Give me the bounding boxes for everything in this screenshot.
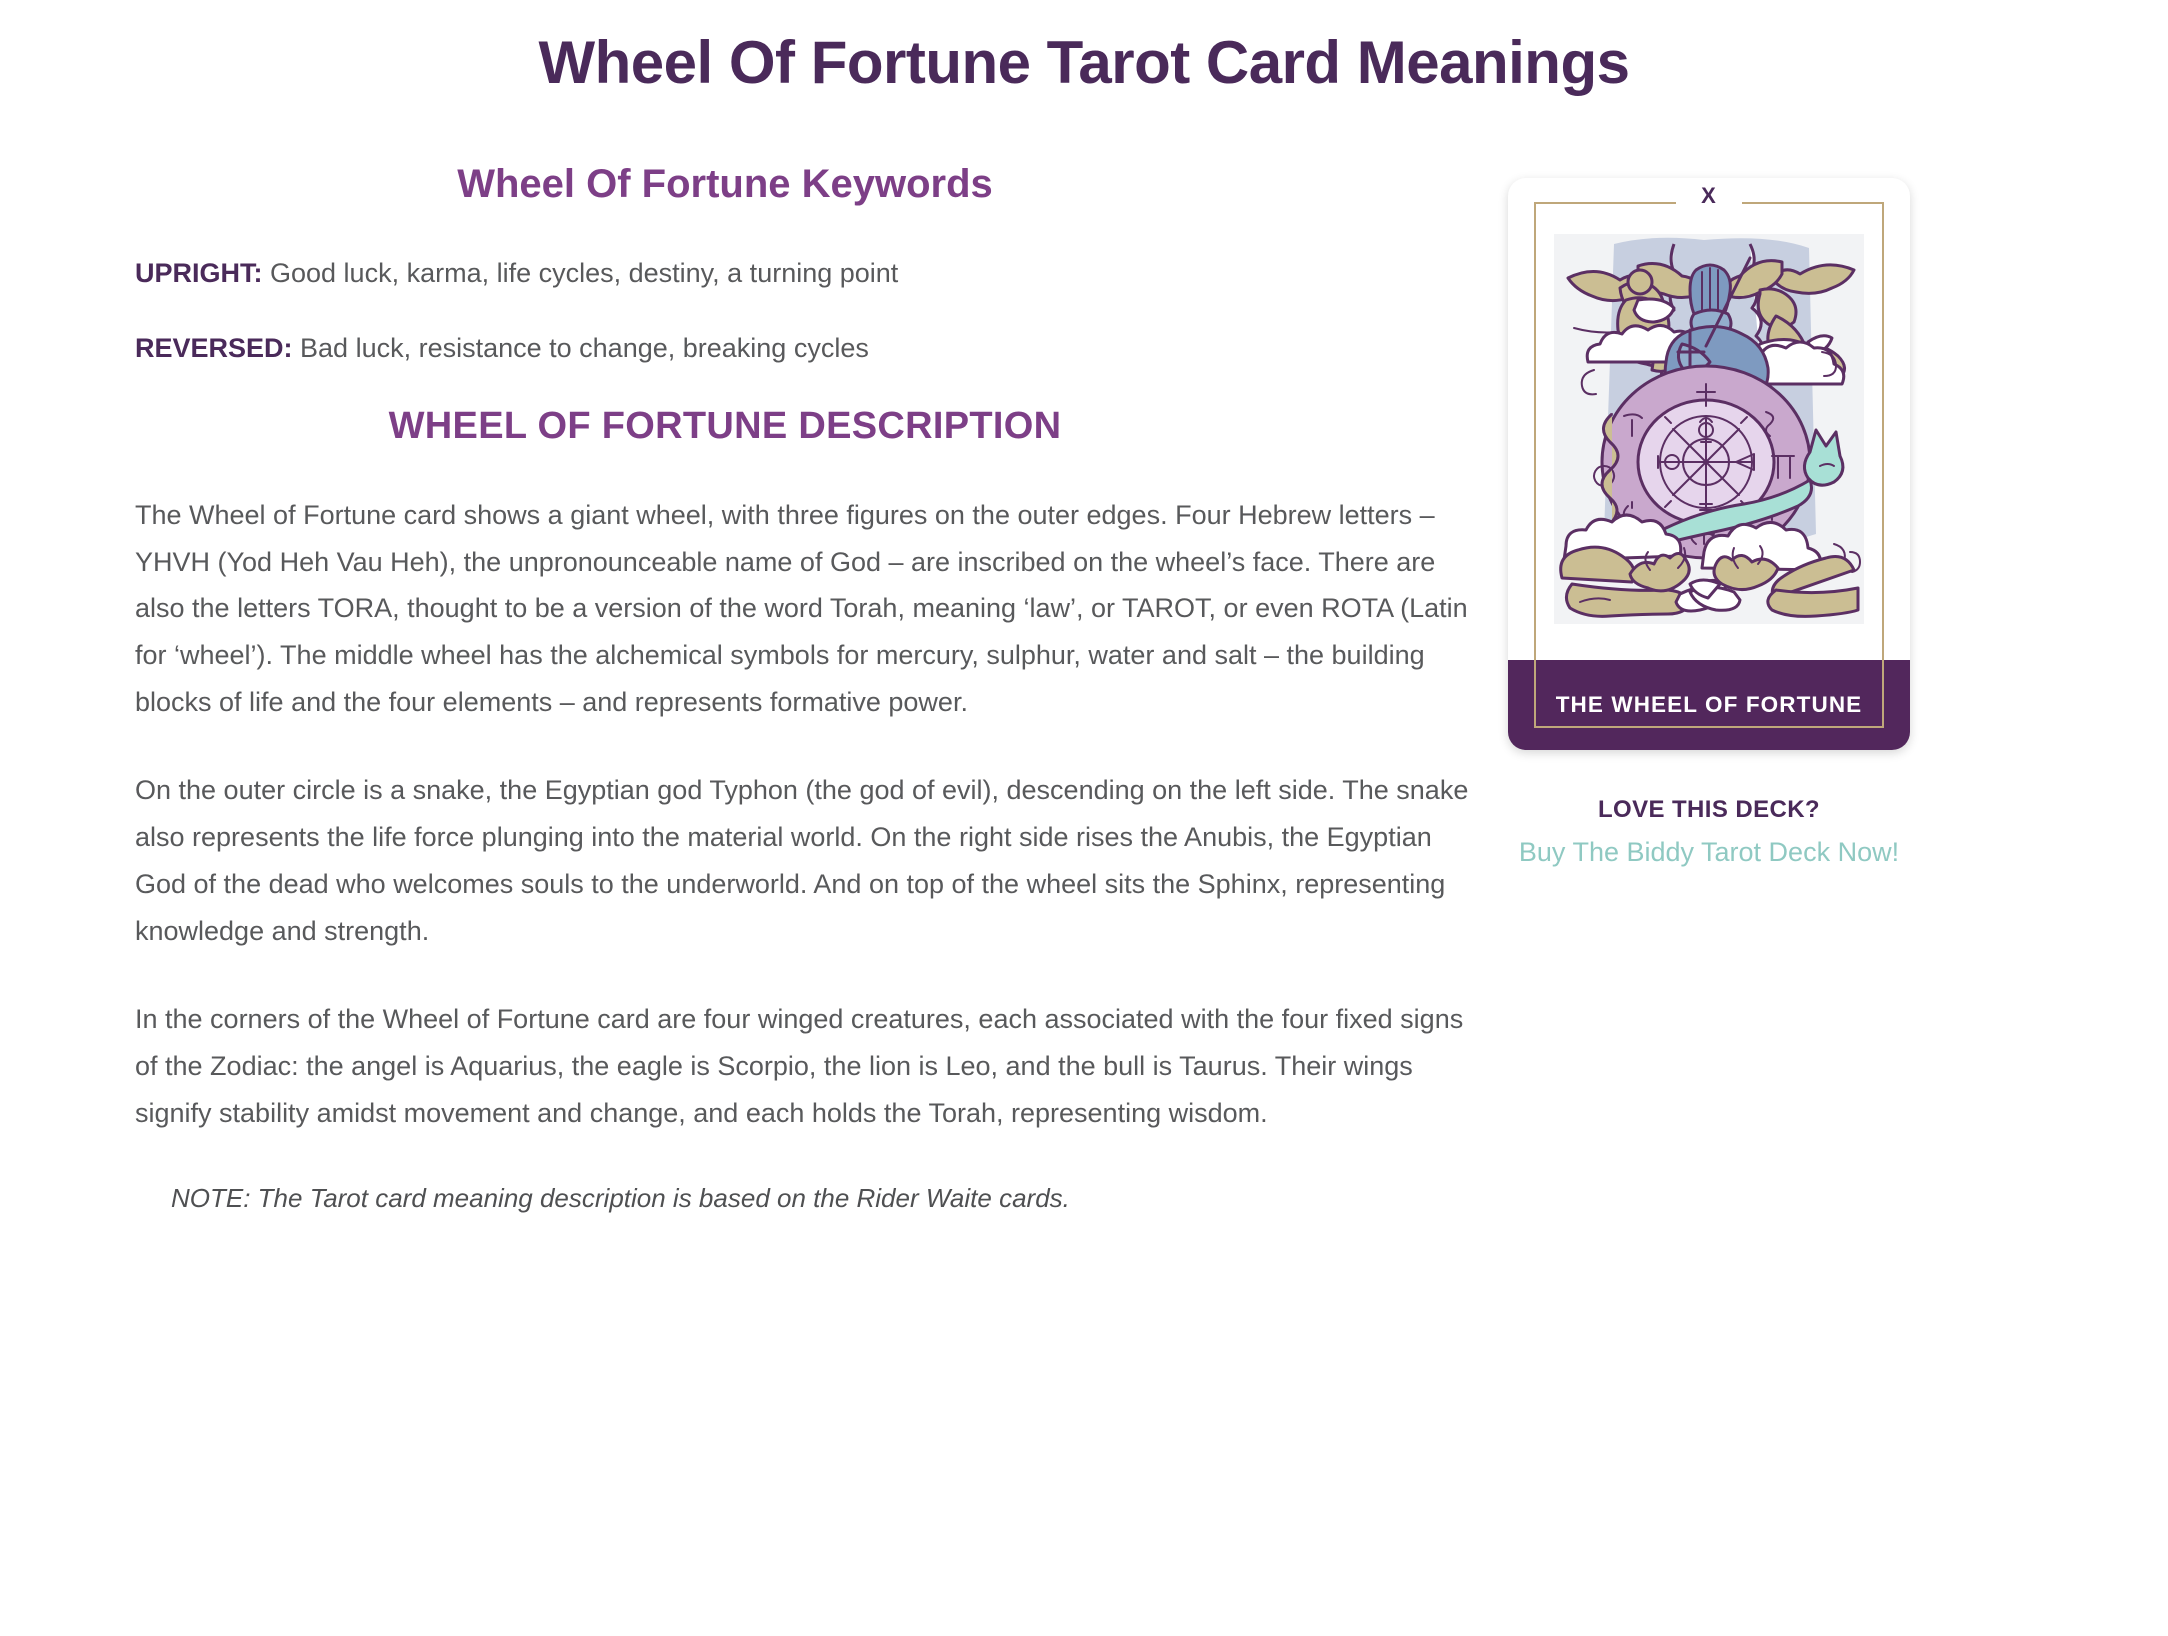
text-column: Wheel Of Fortune Keywords UPRIGHT: Good … [135, 160, 1475, 1220]
page-title: Wheel Of Fortune Tarot Card Meanings [0, 28, 2168, 97]
keyword-upright-line: UPRIGHT: Good luck, karma, life cycles, … [135, 254, 1475, 293]
card-column: X .ln { fill:none; stroke:#5b2f63; strok… [1508, 178, 2056, 870]
wheel-of-fortune-illustration-icon: .ln { fill:none; stroke:#5b2f63; stroke-… [1554, 234, 1864, 624]
keyword-reversed-label: REVERSED: [135, 333, 293, 363]
tarot-card[interactable]: X .ln { fill:none; stroke:#5b2f63; strok… [1508, 178, 1910, 750]
tarot-meaning-page: Wheel Of Fortune Tarot Card Meanings Whe… [0, 0, 2168, 1636]
keyword-upright-label: UPRIGHT: [135, 258, 263, 288]
keyword-upright-text: Good luck, karma, life cycles, destiny, … [263, 258, 899, 288]
keyword-reversed-text: Bad luck, resistance to change, breaking… [293, 333, 869, 363]
buy-deck-link[interactable]: Buy The Biddy Tarot Deck Now! [1508, 835, 1910, 870]
description-paragraph-2: On the outer circle is a snake, the Egyp… [135, 767, 1475, 954]
description-paragraph-1: The Wheel of Fortune card shows a giant … [135, 492, 1475, 726]
content-area: Wheel Of Fortune Keywords UPRIGHT: Good … [0, 160, 2168, 1636]
deck-promo: LOVE THIS DECK? Buy The Biddy Tarot Deck… [1508, 794, 1910, 870]
keyword-reversed-line: REVERSED: Bad luck, resistance to change… [135, 329, 1475, 368]
description-note: NOTE: The Tarot card meaning description… [135, 1178, 1475, 1220]
card-numeral: X [1701, 183, 1717, 209]
description-paragraph-3: In the corners of the Wheel of Fortune c… [135, 996, 1475, 1136]
card-name-banner: THE WHEEL OF FORTUNE [1508, 660, 1910, 750]
keywords-heading: Wheel Of Fortune Keywords [135, 160, 1475, 208]
deck-promo-title: LOVE THIS DECK? [1508, 794, 1910, 825]
description-heading: WHEEL OF FORTUNE DESCRIPTION [135, 404, 1475, 450]
card-name-label: THE WHEEL OF FORTUNE [1556, 692, 1863, 718]
